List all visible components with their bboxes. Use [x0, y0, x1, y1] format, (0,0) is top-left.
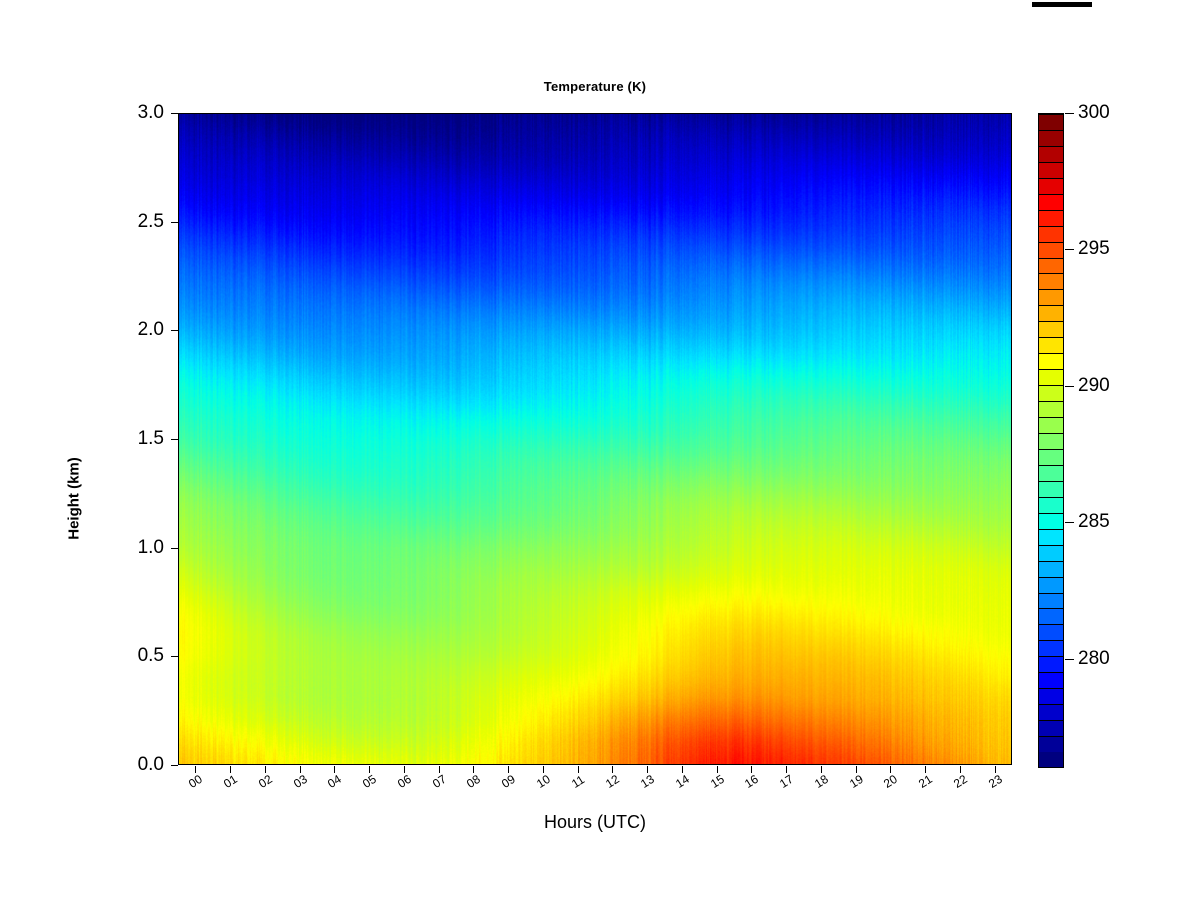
colorbar-segment: [1039, 130, 1063, 146]
colorbar-segment: [1039, 289, 1063, 305]
x-tick-label: 19: [847, 772, 866, 791]
colorbar-segment: [1039, 162, 1063, 178]
colorbar-segment: [1039, 305, 1063, 321]
y-tick-label: 3.0: [106, 103, 164, 122]
colorbar-tick-label: 295: [1078, 239, 1110, 258]
y-tick-mark: [171, 330, 178, 331]
colorbar-segment: [1039, 369, 1063, 385]
y-tick-label: 1.0: [106, 538, 164, 557]
temperature-time-height-figure: Temperature (K) 0.00.51.01.52.02.53.0 00…: [0, 0, 1200, 900]
colorbar-segment: [1039, 593, 1063, 609]
plot-area: [178, 113, 1012, 765]
colorbar-tick-mark: [1065, 249, 1074, 250]
colorbar-segment: [1039, 497, 1063, 513]
y-tick-mark: [171, 113, 178, 114]
colorbar-segment: [1039, 608, 1063, 624]
page-title: Temperature (K): [178, 79, 1012, 94]
x-tick-label: 21: [916, 772, 935, 791]
temperature-heatmap: [179, 114, 1011, 764]
colorbar-segment: [1039, 704, 1063, 720]
colorbar: [1038, 113, 1064, 768]
colorbar-segment: [1039, 114, 1063, 130]
x-tick-label: 03: [291, 772, 310, 791]
colorbar-segment: [1039, 258, 1063, 274]
x-tick-label: 13: [638, 772, 657, 791]
x-tick-label: 23: [986, 772, 1005, 791]
x-tick-label: 17: [777, 772, 796, 791]
x-tick-label: 07: [430, 772, 449, 791]
x-tick-label: 22: [951, 772, 970, 791]
colorbar-tick-mark: [1065, 659, 1074, 660]
colorbar-segment: [1039, 561, 1063, 577]
colorbar-segment: [1039, 226, 1063, 242]
y-tick-mark: [171, 548, 178, 549]
colorbar-segment: [1039, 736, 1063, 752]
colorbar-tick-mark: [1065, 113, 1074, 114]
x-tick-label: 05: [360, 772, 379, 791]
colorbar-tick-label: 290: [1078, 376, 1110, 395]
colorbar-segment: [1039, 273, 1063, 289]
x-tick-label: 06: [395, 772, 414, 791]
y-tick-mark: [171, 439, 178, 440]
x-tick-label: 09: [499, 772, 518, 791]
y-tick-mark: [171, 765, 178, 766]
colorbar-tick-label: 300: [1078, 103, 1110, 122]
x-tick-label: 18: [812, 772, 831, 791]
y-tick-mark: [171, 222, 178, 223]
colorbar-tick-label: 285: [1078, 512, 1110, 531]
colorbar-segment: [1039, 624, 1063, 640]
colorbar-segment: [1039, 449, 1063, 465]
colorbar-segment: [1039, 385, 1063, 401]
y-axis-title: Height (km): [66, 419, 83, 579]
colorbar-segment: [1039, 577, 1063, 593]
colorbar-tick-label: 280: [1078, 649, 1110, 668]
colorbar-segment: [1039, 194, 1063, 210]
x-axis-title: Hours (UTC): [178, 812, 1012, 833]
colorbar-segment: [1039, 433, 1063, 449]
colorbar-segment: [1039, 752, 1063, 767]
y-tick-label: 0.5: [106, 646, 164, 665]
colorbar-segment: [1039, 672, 1063, 688]
x-tick-label: 10: [534, 772, 553, 791]
colorbar-segment: [1039, 417, 1063, 433]
x-tick-label: 08: [464, 772, 483, 791]
y-tick-label: 2.0: [106, 320, 164, 339]
x-tick-label: 04: [325, 772, 344, 791]
colorbar-segment: [1039, 529, 1063, 545]
colorbar-segment: [1039, 481, 1063, 497]
x-tick-label: 12: [603, 772, 622, 791]
colorbar-tick-mark: [1065, 386, 1074, 387]
y-tick-label: 0.0: [106, 755, 164, 774]
colorbar-segment: [1039, 720, 1063, 736]
colorbar-segment: [1039, 513, 1063, 529]
x-tick-label: 16: [742, 772, 761, 791]
y-tick-label: 2.5: [106, 212, 164, 231]
x-tick-label: 20: [881, 772, 900, 791]
y-tick-mark: [171, 656, 178, 657]
clipped-legend-artifact: [1032, 2, 1092, 7]
colorbar-segment: [1039, 640, 1063, 656]
colorbar-tick-mark: [1065, 522, 1074, 523]
colorbar-segment: [1039, 178, 1063, 194]
x-tick-label: 02: [256, 772, 275, 791]
y-axis-ticks: 0.00.51.01.52.02.53.0: [0, 0, 178, 900]
x-tick-label: 11: [569, 772, 587, 790]
y-tick-label: 1.5: [106, 429, 164, 448]
colorbar-segment: [1039, 656, 1063, 672]
x-tick-label: 01: [221, 772, 240, 791]
colorbar-segment: [1039, 210, 1063, 226]
x-tick-label: 15: [708, 772, 727, 791]
x-tick-label: 14: [673, 772, 692, 791]
colorbar-segment: [1039, 688, 1063, 704]
colorbar-segment: [1039, 337, 1063, 353]
x-tick-label: 00: [186, 772, 205, 791]
colorbar-segment: [1039, 242, 1063, 258]
colorbar-segment: [1039, 146, 1063, 162]
colorbar-segment: [1039, 353, 1063, 369]
colorbar-segment: [1039, 401, 1063, 417]
colorbar-segment: [1039, 545, 1063, 561]
colorbar-segment: [1039, 321, 1063, 337]
colorbar-segment: [1039, 465, 1063, 481]
